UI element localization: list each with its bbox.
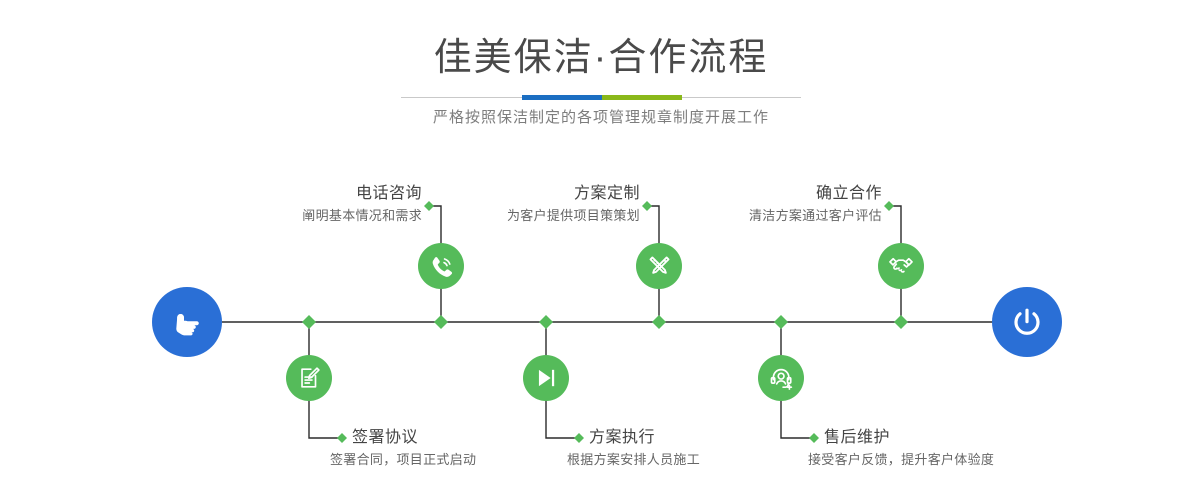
step-desc: 接受客户反馈，提升客户体验度 (808, 450, 1154, 470)
page-header: 佳美保洁·合作流程 (0, 0, 1202, 81)
document-edit-icon (296, 365, 322, 391)
flow-infographic-page: 佳美保洁·合作流程 严格按照保洁制定的各项管理规章制度开展工作 (0, 0, 1202, 502)
step-title: 售后维护 (824, 428, 1154, 448)
title-divider (401, 95, 801, 100)
pointing-hand-icon (168, 303, 206, 341)
step-node-after-sales[interactable] (758, 355, 804, 401)
step-label-after-sales: 售后维护 接受客户反馈，提升客户体验度 (824, 428, 1154, 470)
phone-call-icon (428, 253, 455, 280)
step-desc: 为客户提供项目策策划 (368, 206, 640, 226)
divider-segment-blue (522, 95, 602, 100)
step-node-phone-call[interactable] (418, 243, 464, 289)
step-node-execute-plan[interactable] (523, 355, 569, 401)
page-subtitle: 严格按照保洁制定的各项管理规章制度开展工作 (0, 106, 1202, 127)
step-desc: 清洁方案通过客户评估 (610, 206, 882, 226)
step-node-partnership[interactable] (878, 243, 924, 289)
handshake-icon (887, 252, 915, 280)
flow-end-node[interactable] (992, 287, 1062, 357)
flow-start-node[interactable] (152, 287, 222, 357)
pencil-ruler-icon (646, 253, 673, 280)
page-title: 佳美保洁·合作流程 (0, 0, 1202, 81)
divider-segment-green (602, 95, 682, 100)
step-node-sign-agreement[interactable] (286, 355, 332, 401)
process-flow-diagram: 电话咨询 阐明基本情况和需求 方案定制 为客户提供项目策策划 确立合作 清洁方案… (0, 150, 1202, 502)
step-label-plan-design: 方案定制 为客户提供项目策策划 (368, 184, 640, 226)
step-title: 方案定制 (368, 184, 640, 204)
power-icon (1009, 304, 1045, 340)
play-forward-icon (533, 365, 559, 391)
headset-add-icon (768, 365, 795, 392)
step-label-partnership: 确立合作 清洁方案通过客户评估 (610, 184, 882, 226)
step-title: 确立合作 (610, 184, 882, 204)
step-node-plan-design[interactable] (636, 243, 682, 289)
